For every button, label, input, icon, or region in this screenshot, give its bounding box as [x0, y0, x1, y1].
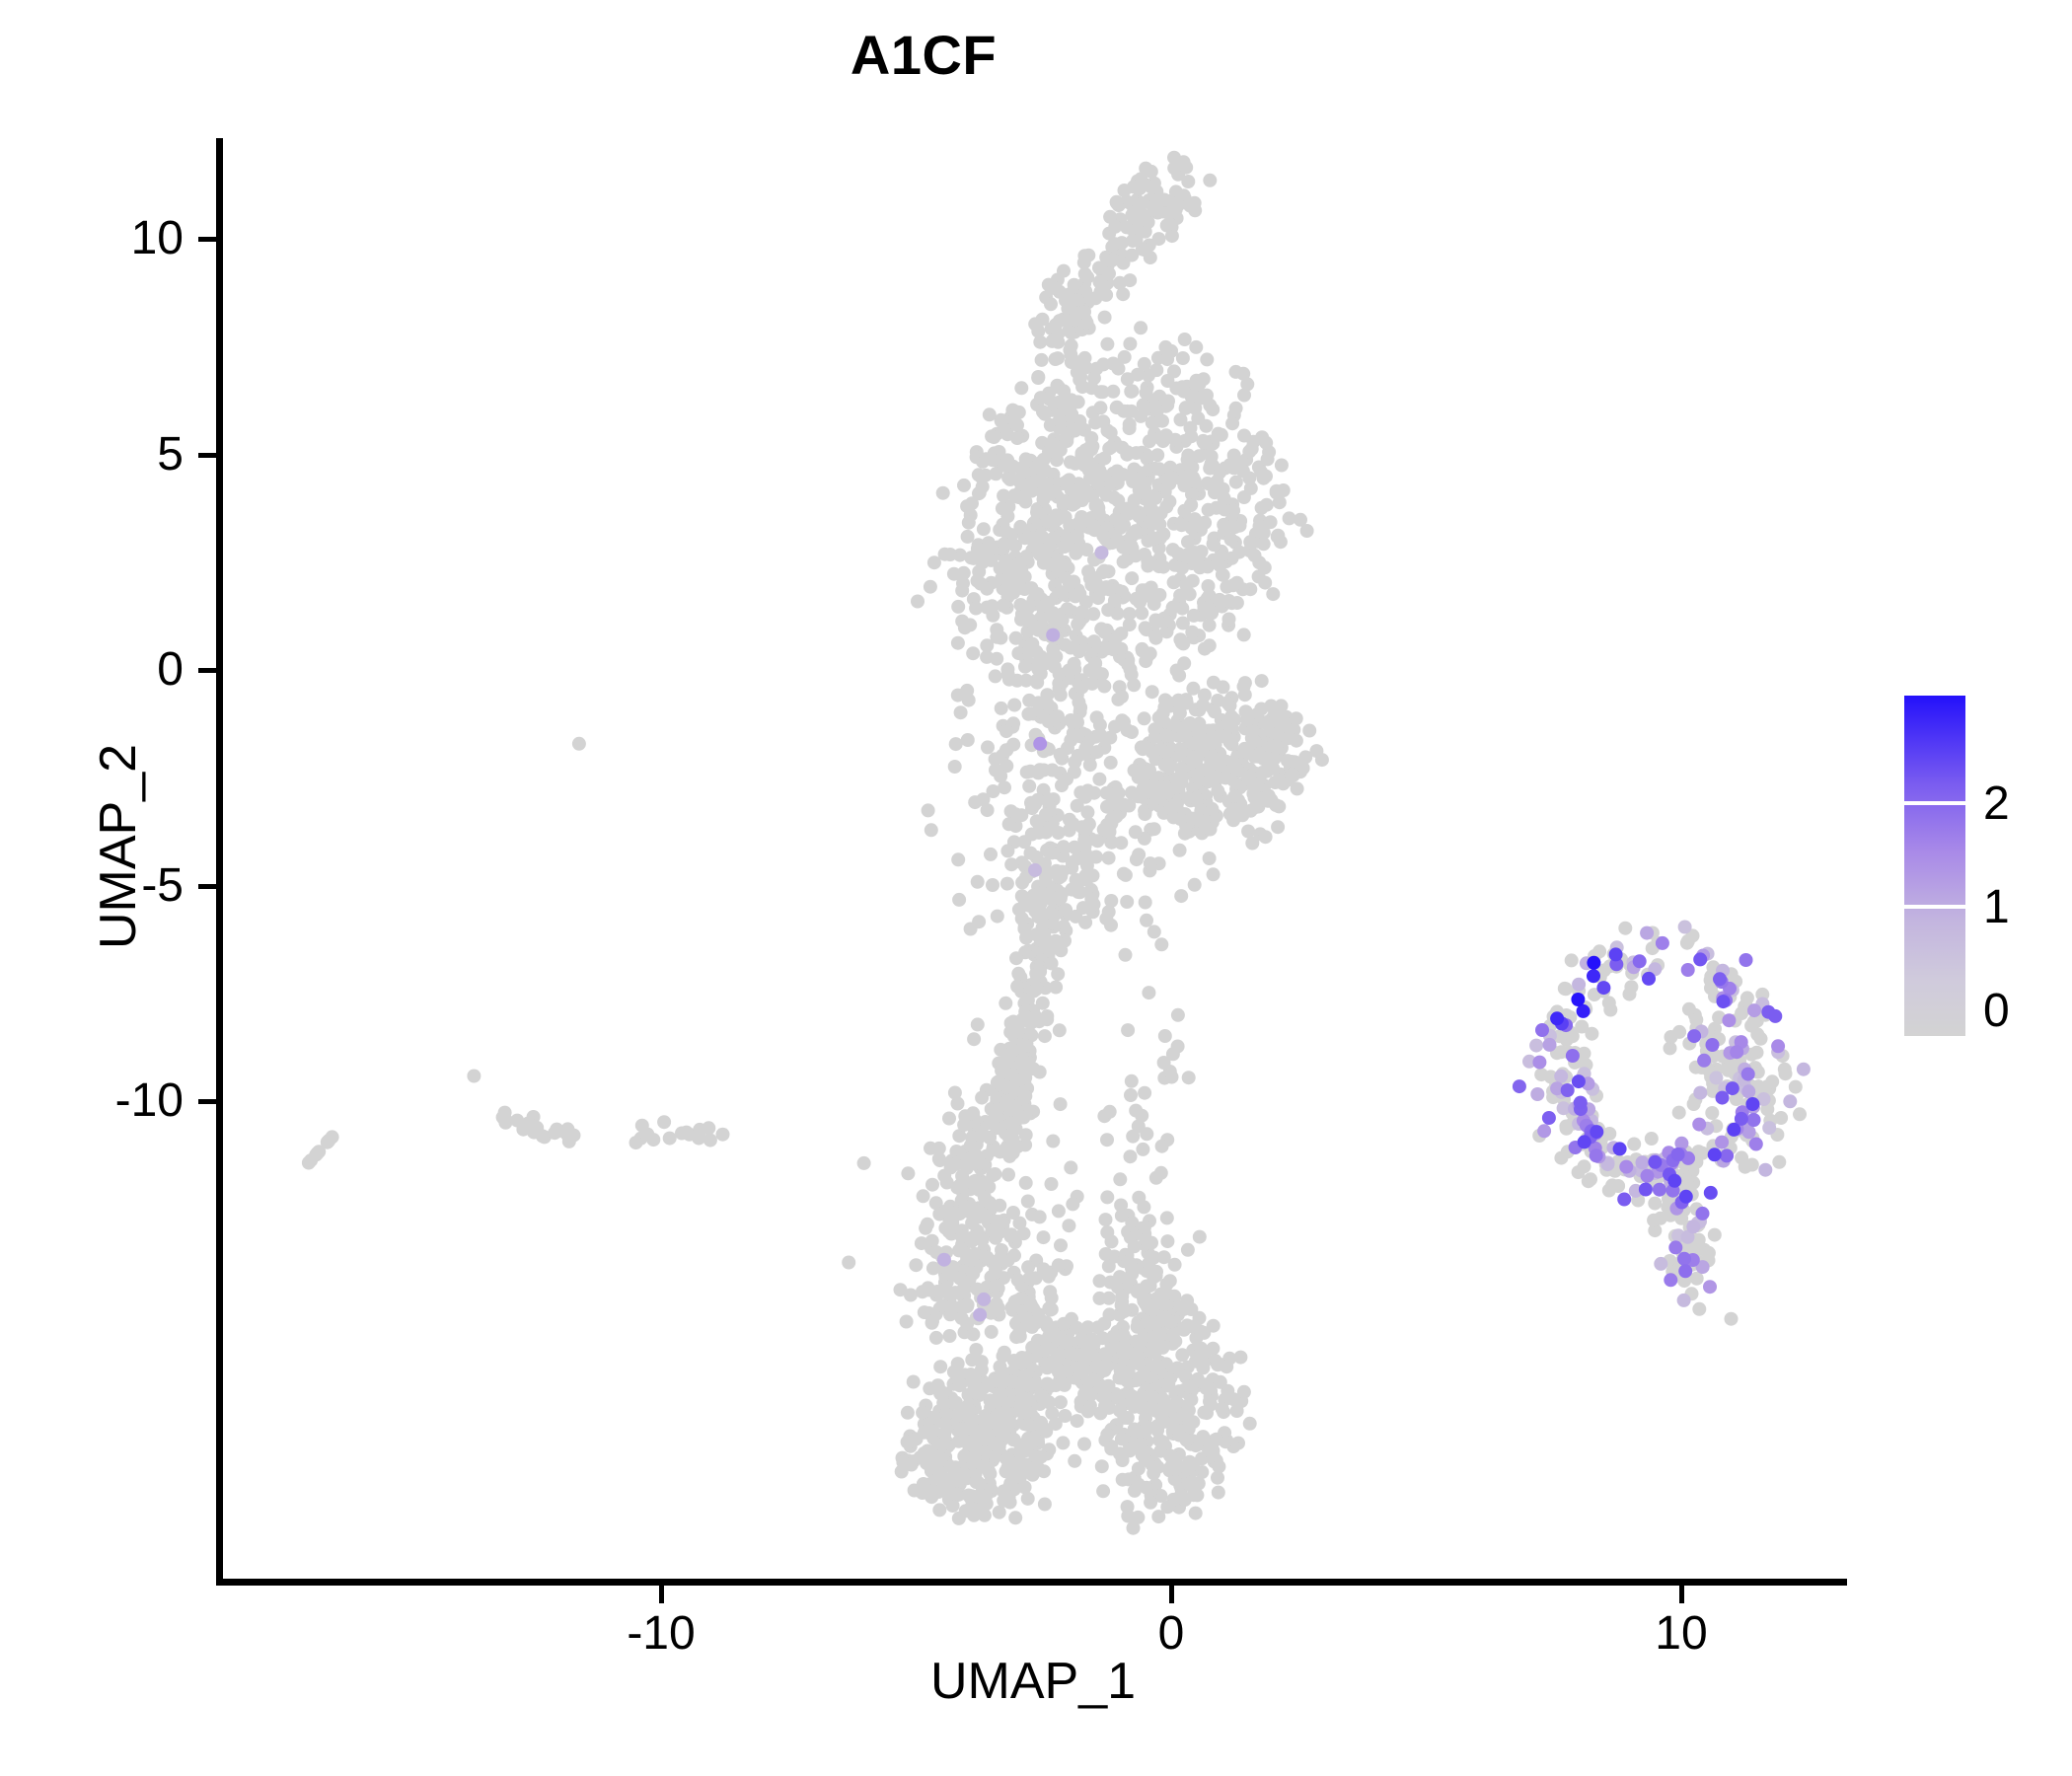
colorbar-legend: 2 1 0 — [1904, 696, 2062, 1051]
scatter-points — [223, 138, 1847, 1579]
y-tick-neg5 — [198, 884, 216, 889]
x-tick-0 — [1169, 1586, 1174, 1603]
x-tick-label-0: 0 — [1073, 1610, 1270, 1658]
y-tick-label-0: 0 — [0, 646, 184, 694]
colorbar-tick-1 — [1904, 905, 1965, 909]
x-tick-neg10 — [659, 1586, 664, 1603]
y-tick-neg10 — [198, 1099, 216, 1104]
x-tick-label-neg10: -10 — [562, 1610, 760, 1658]
y-tick-label-10: 10 — [0, 215, 184, 262]
x-tick-10 — [1679, 1586, 1684, 1603]
y-axis-title: UMAP_2 — [93, 452, 144, 1241]
y-axis-line — [216, 138, 223, 1586]
y-tick-0 — [198, 668, 216, 673]
colorbar-label-0: 0 — [1983, 988, 2010, 1035]
y-tick-label-neg10: -10 — [0, 1077, 184, 1125]
page-title: A1CF — [0, 28, 1847, 83]
y-tick-label-5: 5 — [0, 431, 184, 479]
colorbar-label-1: 1 — [1983, 884, 2010, 931]
y-tick-5 — [198, 453, 216, 458]
x-axis-title: UMAP_1 — [219, 1656, 1847, 1707]
x-axis-line — [216, 1579, 1847, 1586]
x-tick-label-10: 10 — [1583, 1610, 1780, 1658]
y-tick-10 — [198, 237, 216, 242]
colorbar-label-2: 2 — [1983, 780, 2010, 828]
colorbar-gradient — [1904, 696, 1965, 1036]
colorbar-tick-2 — [1904, 801, 1965, 805]
scatter-plot-panel — [223, 138, 1847, 1579]
umap-feature-plot: A1CF 10 5 0 -5 -10 -10 0 10 UMAP_1 UMAP_… — [0, 0, 2072, 1776]
